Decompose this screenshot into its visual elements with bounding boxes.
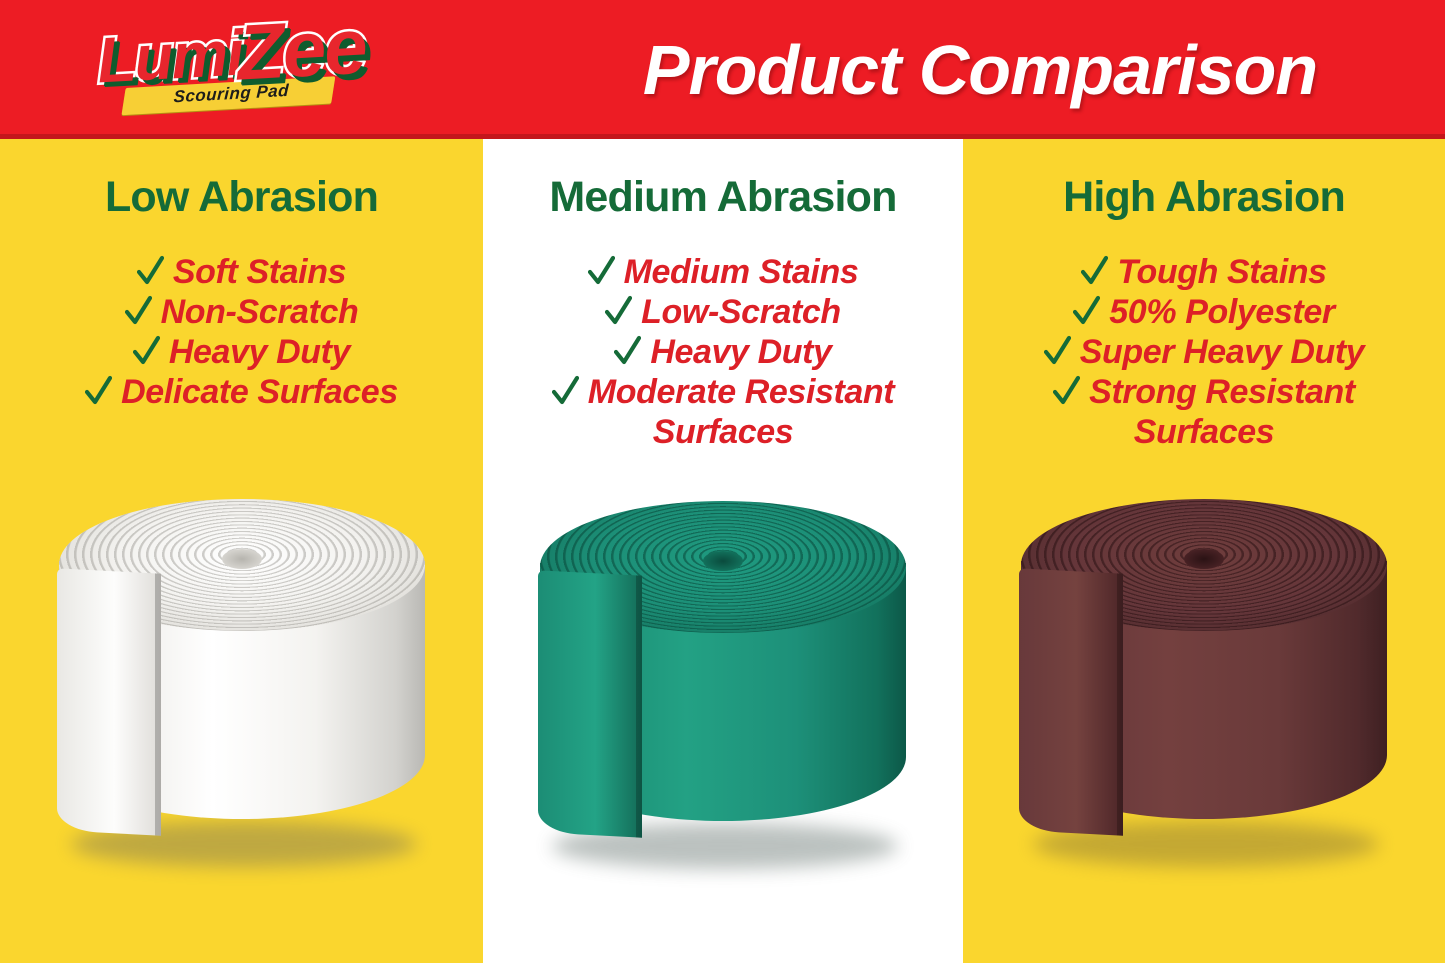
- check-icon: [137, 254, 164, 288]
- feature-item: Heavy Duty: [0, 332, 483, 372]
- check-icon: [85, 374, 112, 408]
- check-icon: [125, 294, 152, 328]
- column-high-abrasion: High Abrasion Tough Stains 50% Polyester…: [963, 139, 1445, 963]
- roll-center-hole: [222, 549, 262, 569]
- check-icon: [1073, 294, 1100, 328]
- feature-label: Heavy Duty: [169, 333, 350, 371]
- feature-item: Soft Stains: [0, 252, 483, 292]
- check-icon: [614, 334, 641, 368]
- roll-center-hole: [703, 551, 743, 571]
- roll-center-hole: [1184, 549, 1224, 569]
- check-icon: [605, 294, 632, 328]
- feature-item: Strong Resistant Surfaces: [963, 372, 1445, 452]
- feature-item: Medium Stains: [483, 252, 963, 292]
- feature-label: Delicate Surfaces: [121, 373, 398, 411]
- feature-label: Non-Scratch: [161, 293, 359, 331]
- feature-label: Moderate Resistant Surfaces: [588, 373, 894, 451]
- comparison-columns: Low Abrasion Soft Stains Non-Scratch Hea…: [0, 139, 1445, 963]
- product-image-high: [963, 499, 1445, 919]
- roll-free-end-flap: [538, 570, 642, 837]
- column-heading-low: Low Abrasion: [0, 173, 483, 222]
- feature-list-low: Soft Stains Non-Scratch Heavy Duty Delic…: [0, 252, 483, 412]
- product-comparison-infographic: Lumi Zee Scouring Pad Product Comparison…: [0, 0, 1445, 963]
- maroon-scouring-pad-roll: [1021, 499, 1387, 861]
- feature-item: 50% Polyester: [963, 292, 1445, 332]
- feature-label: Strong Resistant Surfaces: [1089, 373, 1355, 451]
- feature-label: Low-Scratch: [641, 293, 841, 331]
- column-heading-high: High Abrasion: [963, 173, 1445, 222]
- page-title: Product Comparison: [560, 21, 1400, 119]
- check-icon: [552, 374, 579, 408]
- white-scouring-pad-roll: [59, 499, 425, 861]
- feature-list-medium: Medium Stains Low-Scratch Heavy Duty Mod…: [483, 252, 963, 452]
- check-icon: [1044, 334, 1071, 368]
- green-scouring-pad-roll: [540, 501, 906, 863]
- feature-item: Super Heavy Duty: [963, 332, 1445, 372]
- feature-item: Low-Scratch: [483, 292, 963, 332]
- brand-logo: Lumi Zee Scouring Pad: [93, 10, 370, 129]
- check-icon: [1081, 254, 1108, 288]
- feature-label: Tough Stains: [1117, 253, 1326, 291]
- roll-free-end-flap: [57, 568, 161, 835]
- feature-item: Heavy Duty: [483, 332, 963, 372]
- product-image-low: [0, 499, 483, 919]
- feature-label: Soft Stains: [173, 253, 346, 291]
- check-icon: [133, 334, 160, 368]
- feature-label: Heavy Duty: [650, 333, 831, 371]
- feature-item: Delicate Surfaces: [0, 372, 483, 412]
- feature-item: Non-Scratch: [0, 292, 483, 332]
- column-low-abrasion: Low Abrasion Soft Stains Non-Scratch Hea…: [0, 139, 483, 963]
- feature-item: Tough Stains: [963, 252, 1445, 292]
- column-medium-abrasion: Medium Abrasion Medium Stains Low-Scratc…: [483, 139, 963, 963]
- check-icon: [588, 254, 615, 288]
- feature-item: Moderate Resistant Surfaces: [483, 372, 963, 452]
- roll-free-end-flap: [1019, 568, 1123, 835]
- feature-label: 50% Polyester: [1109, 293, 1334, 331]
- feature-label: Medium Stains: [624, 253, 859, 291]
- feature-list-high: Tough Stains 50% Polyester Super Heavy D…: [963, 252, 1445, 452]
- feature-label: Super Heavy Duty: [1080, 333, 1365, 371]
- column-heading-medium: Medium Abrasion: [483, 173, 963, 222]
- product-image-medium: [483, 501, 963, 921]
- check-icon: [1053, 374, 1080, 408]
- header-banner: Lumi Zee Scouring Pad Product Comparison: [0, 0, 1445, 139]
